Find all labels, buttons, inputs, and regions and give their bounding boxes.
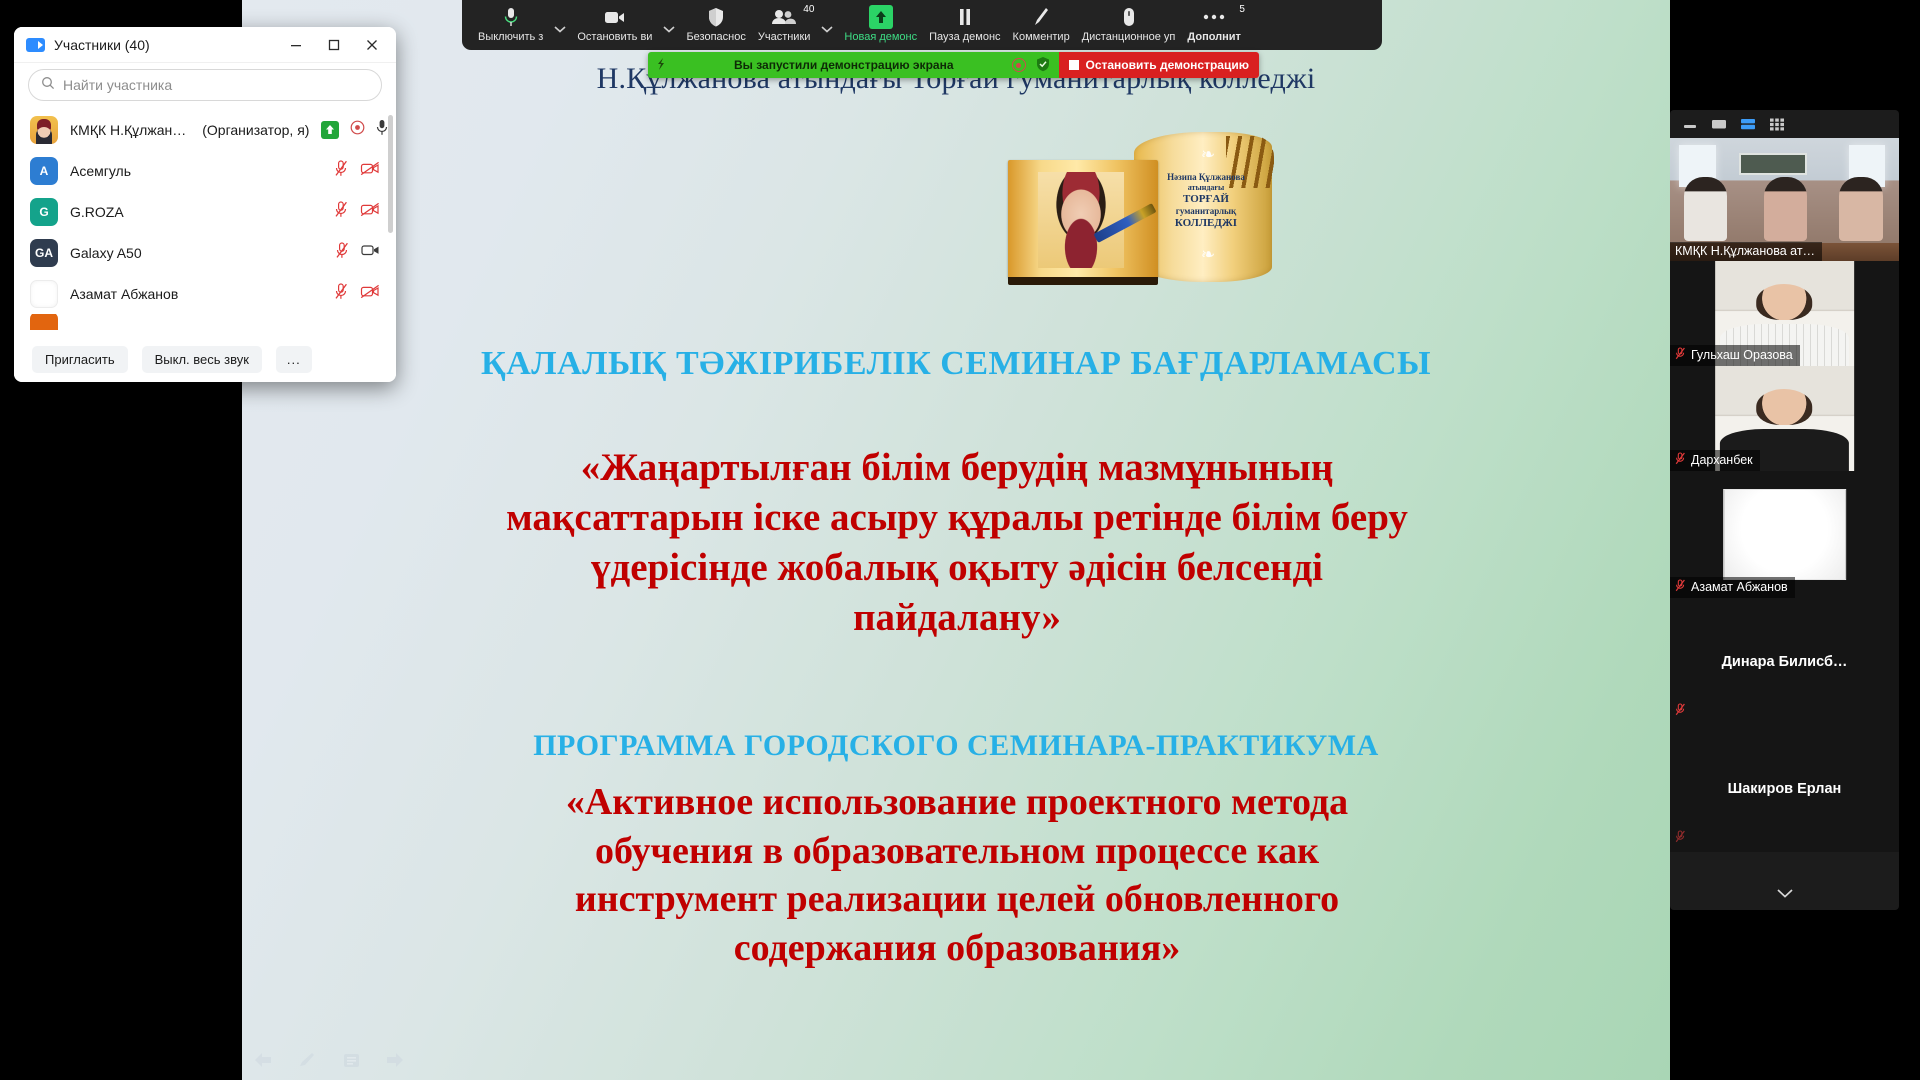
toolbar-video-button[interactable]: Остановить ви: [571, 4, 658, 50]
pause-icon: [957, 4, 973, 30]
minimize-icon[interactable]: [1682, 117, 1698, 131]
toolbar-more-button[interactable]: 5 Дополнит: [1181, 4, 1247, 50]
participant-name: Азамат Абжанов: [70, 286, 178, 302]
gallery-view-icon[interactable]: [1769, 117, 1785, 131]
emblem-line-2: атындағы: [1150, 183, 1262, 193]
microphone-muted-icon: [1675, 703, 1686, 721]
avatar: A: [30, 157, 58, 185]
tile-name-label: КМҚК Н.Құлжанова ат…: [1670, 242, 1822, 261]
slide-russian-body: «Активное использование проектного метод…: [492, 778, 1422, 973]
avatar: [30, 280, 58, 308]
participants-search-box[interactable]: [28, 69, 382, 101]
toolbar-participants-button[interactable]: 40 Участники: [752, 4, 817, 50]
toolbar-remote-control-button[interactable]: Дистанционное уп: [1076, 4, 1182, 50]
window-controls: [278, 30, 390, 60]
toolbar-security-button[interactable]: Безопаснос: [680, 4, 751, 50]
microphone-muted-icon: [1675, 452, 1686, 468]
video-thumbnail-strip: КМҚК Н.Құлжанова ат… Гульхаш Оразова: [1670, 110, 1899, 910]
emblem-portrait-image: [1038, 172, 1124, 268]
annotation-toolbar[interactable]: [252, 1050, 406, 1070]
toolbar-participants-caret[interactable]: [816, 4, 838, 50]
toolbar-mute-caret[interactable]: [549, 4, 571, 50]
toolbar-annotate-button[interactable]: Комментир: [1007, 4, 1076, 50]
list-item[interactable]: G G.ROZA: [14, 191, 396, 232]
toolbar-mute-button[interactable]: Выключить з: [472, 4, 549, 50]
video-placeholder-white: [1723, 489, 1847, 580]
toolbar-more-label: Дополнит: [1187, 31, 1241, 43]
avatar: [30, 116, 58, 144]
camera-muted-icon[interactable]: [360, 202, 380, 222]
forward-arrow-icon[interactable]: [384, 1050, 406, 1070]
participant-name: G.ROZA: [70, 204, 124, 220]
strip-view-icon[interactable]: [1740, 117, 1756, 131]
participant-icons: [321, 119, 396, 141]
toolbar-annotate-label: Комментир: [1013, 31, 1070, 43]
list-item[interactable]: A Асемгуль: [14, 150, 396, 191]
participants-window[interactable]: Участники (40): [14, 27, 396, 382]
share-status-text: Вы запустили демонстрацию экрана: [676, 58, 1002, 72]
participant-name: КМҚК Н.Құлжан…: [70, 122, 186, 138]
invite-button[interactable]: Пригласить: [32, 346, 128, 373]
video-tile[interactable]: Шакиров Ерлан: [1670, 725, 1899, 852]
search-input[interactable]: [63, 77, 369, 93]
microphone-icon[interactable]: [376, 119, 388, 141]
participants-icon: [771, 4, 797, 30]
grab-handle-icon[interactable]: [656, 57, 666, 74]
chevron-down-icon: [1776, 886, 1794, 904]
emblem-line-5: КОЛЛЕДЖІ: [1150, 217, 1262, 230]
tile-name-label: Азамат Абжанов: [1670, 577, 1795, 598]
microphone-muted-icon: [1675, 830, 1686, 848]
video-tile[interactable]: Дарханбек: [1670, 366, 1899, 471]
list-item[interactable]: КМҚК Н.Құлжан… (Организатор, я): [14, 109, 396, 150]
shield-icon[interactable]: [1036, 56, 1050, 75]
menu-icon[interactable]: [340, 1050, 362, 1070]
participants-titlebar: Участники (40): [14, 27, 396, 63]
tile-name-label: Гульхаш Оразова: [1670, 345, 1800, 366]
video-tile[interactable]: Динара Билисб…: [1670, 598, 1899, 725]
zoom-meeting-screen: Н.Құлжанова атындағы Торғай гуманитарлық…: [0, 0, 1920, 1080]
participants-list[interactable]: КМҚК Н.Құлжан… (Организатор, я): [14, 109, 396, 336]
search-icon: [41, 76, 55, 95]
emblem-line-1: Нәзипа Құлжанова: [1150, 172, 1262, 183]
toolbar-video-caret[interactable]: [658, 4, 680, 50]
slide-kazakh-body: «Жаңартылған білім берудің мазмұнының ма…: [492, 443, 1422, 643]
microphone-muted-icon[interactable]: [334, 201, 349, 223]
list-item[interactable]: [14, 314, 396, 330]
participant-name: Galaxy A50: [70, 245, 142, 261]
tile-name-text: Азамат Абжанов: [1691, 580, 1788, 594]
toolbar-pause-share-button[interactable]: Пауза демонс: [923, 4, 1006, 50]
microphone-muted-icon[interactable]: [334, 160, 349, 182]
back-arrow-icon[interactable]: [252, 1050, 274, 1070]
mute-all-button[interactable]: Выкл. весь звук: [142, 346, 262, 373]
toolbar-remote-control-label: Дистанционное уп: [1082, 31, 1176, 43]
share-screen-icon: [869, 4, 893, 30]
college-emblem-logo: ❧ ❧ Нәзипа Құлжанова атындағы ТОРҒАЙ гум…: [994, 132, 1272, 282]
stop-share-button[interactable]: Остановить демонстрацию: [1059, 52, 1259, 78]
toolbar-pause-share-label: Пауза демонс: [929, 31, 1000, 43]
participants-count-badge: 40: [803, 4, 814, 15]
microphone-muted-icon[interactable]: [334, 283, 349, 305]
video-tiles: КМҚК Н.Құлжанова ат… Гульхаш Оразова: [1670, 138, 1899, 880]
video-tile[interactable]: Азамат Абжанов: [1670, 471, 1899, 598]
participant-icons: [334, 201, 380, 223]
view-controls: [1670, 110, 1899, 138]
emblem-line-3: ТОРҒАЙ: [1150, 193, 1262, 206]
toolbar-new-share-label: Новая демонс: [844, 31, 917, 43]
more-options-button[interactable]: ...: [276, 346, 312, 373]
participant-role: (Организатор, я): [202, 122, 309, 138]
microphone-muted-icon: [1675, 579, 1686, 595]
toolbar-video-label: Остановить ви: [577, 31, 652, 43]
maximize-icon[interactable]: [316, 30, 352, 60]
scroll-down-button[interactable]: [1670, 880, 1899, 910]
microphone-icon: [503, 4, 519, 30]
toolbar-mute-label: Выключить з: [478, 31, 543, 43]
toolbar-new-share-button[interactable]: Новая демонс: [838, 4, 923, 50]
record-icon[interactable]: [350, 120, 365, 140]
participant-icons: [334, 283, 380, 305]
emblem-ornament-bottom: ❧: [1180, 244, 1236, 266]
participant-name: Асемгуль: [70, 163, 131, 179]
stop-share-label: Остановить демонстрацию: [1086, 58, 1249, 72]
speaker-view-icon[interactable]: [1711, 117, 1727, 131]
participants-window-title: Участники (40): [54, 37, 150, 53]
share-status-left: Вы запустили демонстрацию экрана: [648, 52, 1059, 78]
pen-icon: [1032, 4, 1050, 30]
toolbar-participants-label: Участники: [758, 31, 811, 43]
participant-icons: [335, 242, 380, 264]
participants-search-wrap: [14, 63, 396, 109]
slide-kazakh-heading: ҚАЛАЛЫҚ ТӘЖІРИБЕЛІК СЕМИНАР БАҒДАРЛАМАСЫ: [242, 345, 1670, 383]
tile-name-text: Дарханбек: [1691, 453, 1753, 467]
emblem-ornament-top: ❧: [1180, 144, 1236, 166]
camera-icon: [603, 4, 627, 30]
toolbar-security-label: Безопаснос: [686, 31, 745, 43]
more-count-badge: 5: [1239, 4, 1245, 15]
slide-russian-heading: ПРОГРАММА ГОРОДСКОГО СЕМИНАРА-ПРАКТИКУМА: [242, 729, 1670, 763]
camera-muted-icon[interactable]: [360, 161, 380, 181]
microphone-muted-icon[interactable]: [335, 242, 350, 264]
more-dots-icon: [1201, 4, 1227, 30]
emblem-line-4: гуманитарлық: [1150, 206, 1262, 217]
share-badge-icon: [321, 121, 339, 139]
avatar: [30, 314, 58, 330]
pen-icon[interactable]: [296, 1050, 318, 1070]
emblem-text-block: Нәзипа Құлжанова атындағы ТОРҒАЙ гуманит…: [1150, 172, 1262, 231]
participants-scrollbar[interactable]: [388, 115, 393, 233]
video-tile[interactable]: Гульхаш Оразова: [1670, 261, 1899, 366]
avatar: G: [30, 198, 58, 226]
screen-share-status-bar: Вы запустили демонстрацию экрана Останов…: [648, 52, 1259, 78]
tile-name-label: Дарханбек: [1670, 450, 1760, 471]
zoom-meeting-toolbar: Выключить з Остановить ви Безопаснос 40: [462, 0, 1382, 50]
remote-control-icon: [1122, 4, 1136, 30]
tile-name-label: Динара Билисб…: [1670, 654, 1899, 670]
shared-screen-slide: Н.Құлжанова атындағы Торғай гуманитарлық…: [242, 0, 1670, 1080]
video-tile[interactable]: КМҚК Н.Құлжанова ат…: [1670, 138, 1899, 261]
camera-icon[interactable]: [361, 243, 380, 262]
stop-square-icon: [1069, 60, 1079, 70]
tile-name-label: Шакиров Ерлан: [1670, 781, 1899, 797]
list-item[interactable]: GA Galaxy A50: [14, 232, 396, 273]
shield-icon: [707, 4, 725, 30]
tile-name-text: Гульхаш Оразова: [1691, 348, 1793, 362]
minimize-icon[interactable]: [278, 30, 314, 60]
camera-muted-icon[interactable]: [360, 284, 380, 304]
list-item[interactable]: Азамат Абжанов: [14, 273, 396, 314]
avatar: GA: [30, 239, 58, 267]
participants-footer: Пригласить Выкл. весь звук ...: [14, 336, 396, 382]
close-icon[interactable]: [354, 30, 390, 60]
record-icon[interactable]: [1012, 58, 1026, 72]
participant-icons: [334, 160, 380, 182]
microphone-muted-icon: [1675, 347, 1686, 363]
zoom-logo-icon: [26, 38, 45, 52]
